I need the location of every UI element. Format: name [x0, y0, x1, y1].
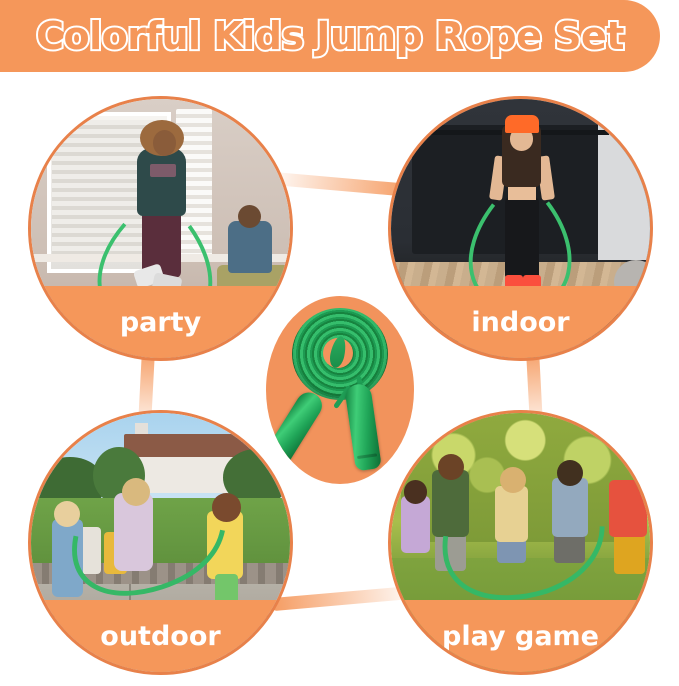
photo-circle-indoor[interactable]: indoor: [388, 96, 653, 361]
center-product-circle[interactable]: [266, 296, 414, 484]
caption-label-party: party: [120, 307, 201, 338]
title-banner: Colorful Kids Jump Rope Set: [0, 0, 660, 72]
rope-handle-right: [344, 383, 382, 472]
photo-circle-outdoor[interactable]: outdoor: [28, 410, 293, 675]
photo-circle-play-game[interactable]: play game: [388, 410, 653, 675]
caption-label-indoor: indoor: [471, 307, 569, 338]
photo-circle-party[interactable]: party: [28, 96, 293, 361]
rope-coil-center: [323, 338, 353, 368]
rope-handle-left: [266, 388, 327, 475]
caption-band-indoor: indoor: [391, 286, 650, 358]
caption-label-outdoor: outdoor: [100, 621, 220, 652]
caption-label-play-game: play game: [442, 621, 599, 652]
caption-band-party: party: [31, 286, 290, 358]
caption-band-outdoor: outdoor: [31, 600, 290, 672]
page-title: Colorful Kids Jump Rope Set: [36, 14, 624, 58]
caption-band-play-game: play game: [391, 600, 650, 672]
